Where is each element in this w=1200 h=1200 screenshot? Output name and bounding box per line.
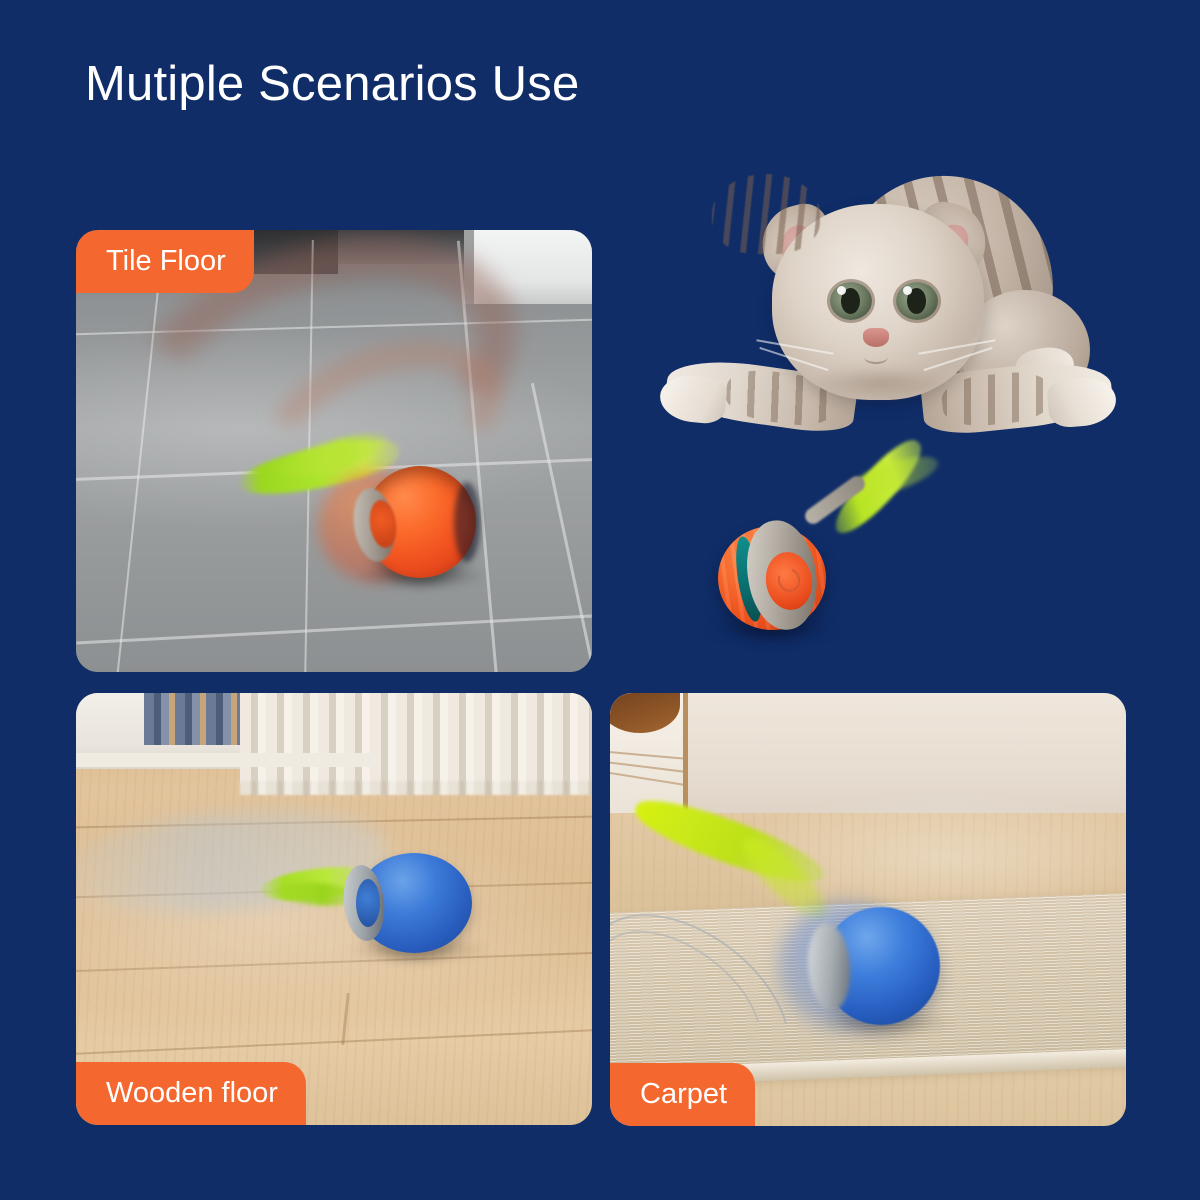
kitten-eye-glint-left	[837, 286, 846, 295]
picture-line	[610, 771, 688, 789]
badge-label: Wooden floor	[106, 1079, 278, 1108]
baseboard	[76, 753, 376, 767]
kitten-chin-shadow	[810, 366, 950, 400]
hero-kitten-scene	[660, 170, 1140, 660]
marketing-page: Mutiple Scenarios Use	[0, 0, 1200, 1200]
badge-tile-floor: Tile Floor	[76, 230, 254, 293]
picture-line	[610, 751, 688, 762]
kitten-image	[660, 170, 1140, 470]
badge-label: Tile Floor	[106, 247, 226, 276]
picture-artwork	[610, 693, 680, 733]
badge-wooden-floor: Wooden floor	[76, 1062, 306, 1125]
blue-ball-toy	[822, 907, 940, 1025]
kitten-paw-left	[658, 373, 728, 426]
ball-button	[356, 879, 380, 927]
ball-shadow-edge	[454, 482, 480, 562]
tile-floor-photo	[76, 230, 592, 672]
curtain	[240, 693, 592, 789]
kitten-eye-glint-right	[903, 286, 912, 295]
kitten-forehead-stripes	[712, 174, 820, 254]
wooden-floor-photo	[76, 693, 592, 1125]
scenario-card-wooden-floor[interactable]: Wooden floor	[76, 693, 592, 1125]
page-title: Mutiple Scenarios Use	[85, 56, 579, 112]
blue-ball-toy	[356, 853, 472, 953]
kitten-nose	[863, 328, 889, 347]
scenario-card-carpet[interactable]: Carpet	[610, 693, 1126, 1126]
badge-label: Carpet	[640, 1080, 727, 1109]
kitten-leg-stripes	[940, 368, 1055, 429]
carpet-photo	[610, 693, 1126, 1126]
orange-ball-toy	[364, 466, 476, 578]
kitten-mouth	[864, 350, 888, 364]
scenario-card-tile[interactable]: Tile Floor	[76, 230, 592, 672]
badge-carpet: Carpet	[610, 1063, 755, 1126]
